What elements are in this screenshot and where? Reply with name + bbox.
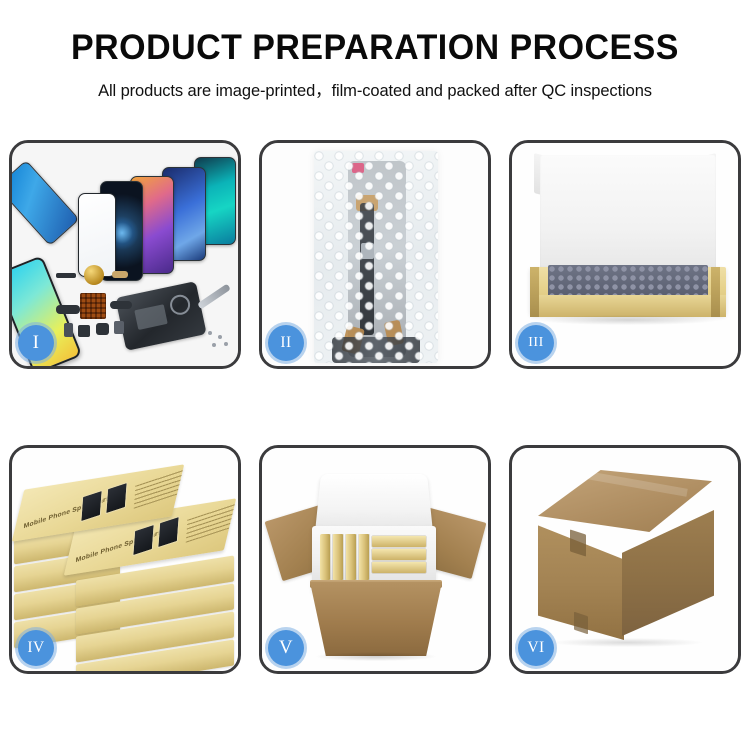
gold-box-flat: [372, 562, 426, 573]
page-header: PRODUCT PREPARATION PROCESS All products…: [0, 0, 750, 101]
box-spec-lines: [186, 499, 236, 543]
gold-box-flat: [372, 536, 426, 547]
gold-box-upright: [346, 534, 356, 580]
step-panel-6[interactable]: VI: [509, 445, 741, 674]
box-screen-graphic: [80, 490, 102, 523]
step-badge-2: II: [268, 325, 304, 361]
drop-shadow: [552, 638, 702, 647]
tray-edge-right: [711, 267, 720, 317]
spare-part-chip: [64, 323, 73, 337]
step-panel-2[interactable]: II: [259, 140, 491, 369]
page-subtitle: All products are image-printed，film-coat…: [0, 77, 750, 101]
step-badge-4: IV: [18, 630, 54, 666]
spare-part-chip: [112, 271, 128, 278]
spare-part-chip: [56, 305, 80, 314]
connector-grid: [80, 293, 106, 319]
screws-group: [208, 331, 230, 349]
gold-boxes-inside: [320, 534, 428, 580]
tray-front-face: [530, 295, 726, 317]
step-panel-1[interactable]: I: [9, 140, 241, 369]
step-badge-6: VI: [518, 630, 554, 666]
gold-box-upright: [320, 534, 330, 580]
speaker-module: [84, 265, 104, 285]
spare-part-chip: [96, 323, 109, 335]
box-stack: Mobile Phone Spare Parts Mobile Phone Sp…: [14, 464, 236, 660]
drop-shadow: [538, 315, 718, 325]
outer-carton-body: [310, 582, 442, 656]
spare-part-chip: [110, 301, 132, 309]
gold-box-upright: [359, 534, 369, 580]
bubble-wrap-bag: [314, 151, 438, 363]
spare-part-chip: [56, 273, 76, 278]
drop-shadow: [316, 652, 436, 661]
spare-part-chip: [114, 321, 124, 334]
step-badge-5: V: [268, 630, 304, 666]
box-screen-graphic: [157, 516, 179, 549]
step-panel-4[interactable]: Mobile Phone Spare Parts Mobile Phone Sp…: [9, 445, 241, 674]
gray-foam-insert: [548, 265, 708, 299]
spare-part-chip: [78, 325, 90, 337]
process-step-grid: I II: [9, 140, 741, 674]
phone-glass-panel: [78, 193, 116, 277]
gold-box-flat: [372, 549, 426, 560]
box-spec-lines: [134, 465, 184, 509]
tray-edge-left: [530, 267, 539, 317]
page-title: PRODUCT PREPARATION PROCESS: [11, 30, 739, 67]
box-screen-graphic: [105, 482, 127, 515]
white-lid-panel: [540, 155, 716, 277]
step-badge-3: III: [518, 325, 554, 361]
bubble-texture: [314, 151, 438, 363]
box-screen-graphic: [132, 524, 154, 557]
step-panel-3[interactable]: III: [509, 140, 741, 369]
step-badge-1: I: [18, 325, 54, 361]
gold-box-upright: [333, 534, 343, 580]
step-panel-5[interactable]: V: [259, 445, 491, 674]
